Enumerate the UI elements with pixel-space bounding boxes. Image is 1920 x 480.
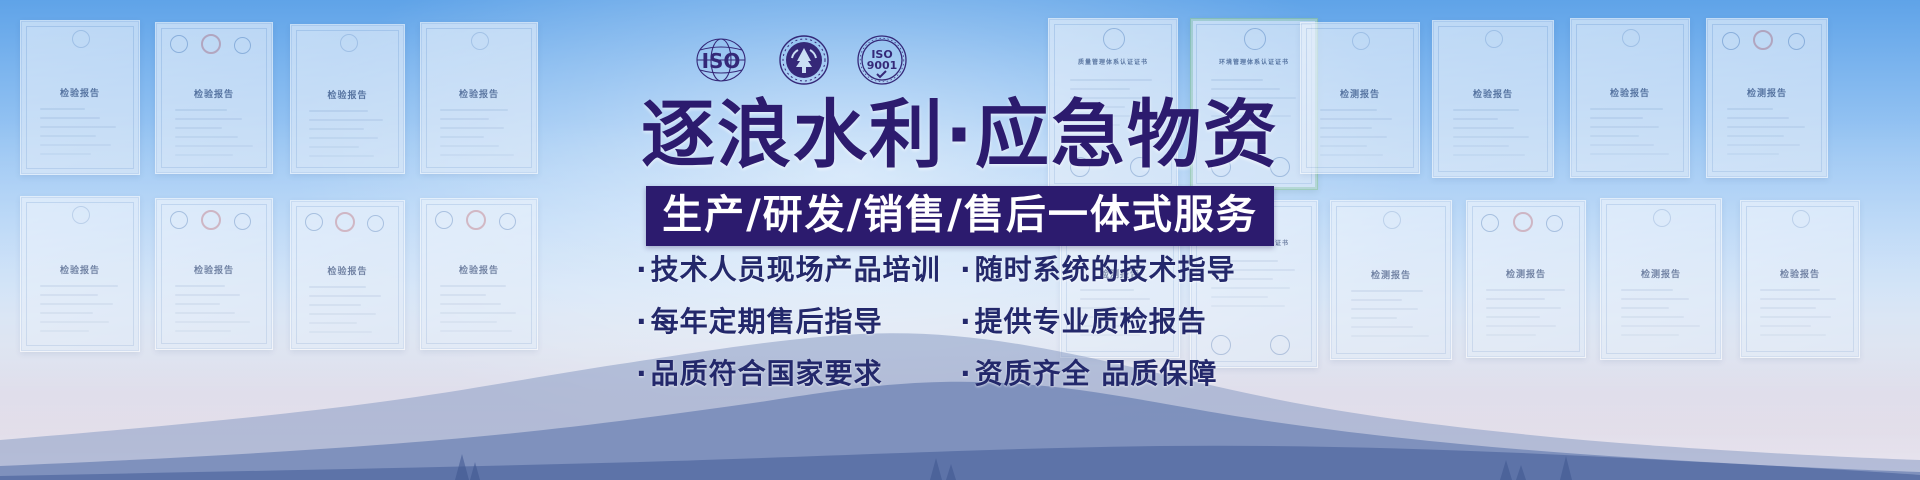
certificate-text-line	[1211, 79, 1263, 81]
feature-label: 品质符合国家要求	[651, 357, 883, 390]
iso-9001-logo: ISO 9001	[856, 34, 908, 91]
feature-item: ·随时系统的技术指导	[960, 248, 1284, 292]
feature-item: ·每年定期售后指导	[636, 300, 960, 344]
certificate-title: 质量管理体系认证证书	[1049, 57, 1177, 66]
bullet-dot-icon: ·	[960, 253, 972, 286]
feature-item: ·资质齐全 品质保障	[960, 352, 1284, 396]
certificate-emblem-icon	[471, 32, 489, 50]
certificate-text-line	[1070, 79, 1152, 81]
feature-row: ·品质符合国家要求·资质齐全 品质保障	[636, 352, 1284, 396]
svg-text:ISO: ISO	[702, 49, 741, 73]
feature-label: 提供专业质检报告	[975, 305, 1207, 338]
feature-label: 资质齐全 品质保障	[975, 357, 1218, 390]
certificate-text-line	[1070, 88, 1130, 90]
banner-headline: 逐浪水利·应急物资	[0, 98, 1920, 172]
certification-logos: ISO ISO	[690, 34, 908, 91]
quality-emblem-logo	[778, 34, 830, 91]
feature-label: 随时系统的技术指导	[975, 253, 1236, 286]
certificate-emblem-icon	[1622, 29, 1640, 47]
certificate-seal-icon	[1788, 33, 1805, 50]
feature-row: ·技术人员现场产品培训·随时系统的技术指导	[636, 248, 1284, 292]
feature-label: 每年定期售后指导	[651, 305, 883, 338]
certificate-emblem-icon	[340, 34, 358, 52]
promo-banner: 检验报告检验报告检验报告检验报告检验报告检验报告检验报告检验报告质量管理体系认证…	[0, 0, 1920, 480]
certificate-red-stamp	[201, 34, 221, 54]
feature-list: ·技术人员现场产品培训·随时系统的技术指导·每年定期售后指导·提供专业质检报告·…	[0, 248, 1920, 404]
certificate-emblem-icon	[1103, 28, 1125, 50]
certificate-seal-icon	[1722, 32, 1740, 50]
certificate-title: 环境管理体系认证证书	[1191, 57, 1317, 66]
bullet-dot-icon: ·	[636, 357, 648, 390]
iso-globe-logo: ISO	[690, 36, 752, 89]
feature-item: ·提供专业质检报告	[960, 300, 1284, 344]
bullet-dot-icon: ·	[636, 305, 648, 338]
feature-item: ·技术人员现场产品培训	[636, 248, 960, 292]
feature-item: ·品质符合国家要求	[636, 352, 960, 396]
certificate-emblem-icon	[1352, 32, 1370, 50]
feature-row: ·每年定期售后指导·提供专业质检报告	[636, 300, 1284, 344]
bullet-dot-icon: ·	[960, 357, 972, 390]
certificate-seal-icon	[234, 37, 251, 54]
svg-text:9001: 9001	[867, 59, 898, 72]
bullet-dot-icon: ·	[636, 253, 648, 286]
certificate-text-line	[1211, 88, 1279, 90]
subtitle-bar: 生产/研发/销售/售后一体式服务	[646, 186, 1274, 246]
subtitle-bar-wrap: 生产/研发/销售/售后一体式服务	[0, 186, 1920, 246]
feature-label: 技术人员现场产品培训	[651, 253, 941, 286]
certificate-emblem-icon	[1244, 28, 1266, 50]
bullet-dot-icon: ·	[960, 305, 972, 338]
